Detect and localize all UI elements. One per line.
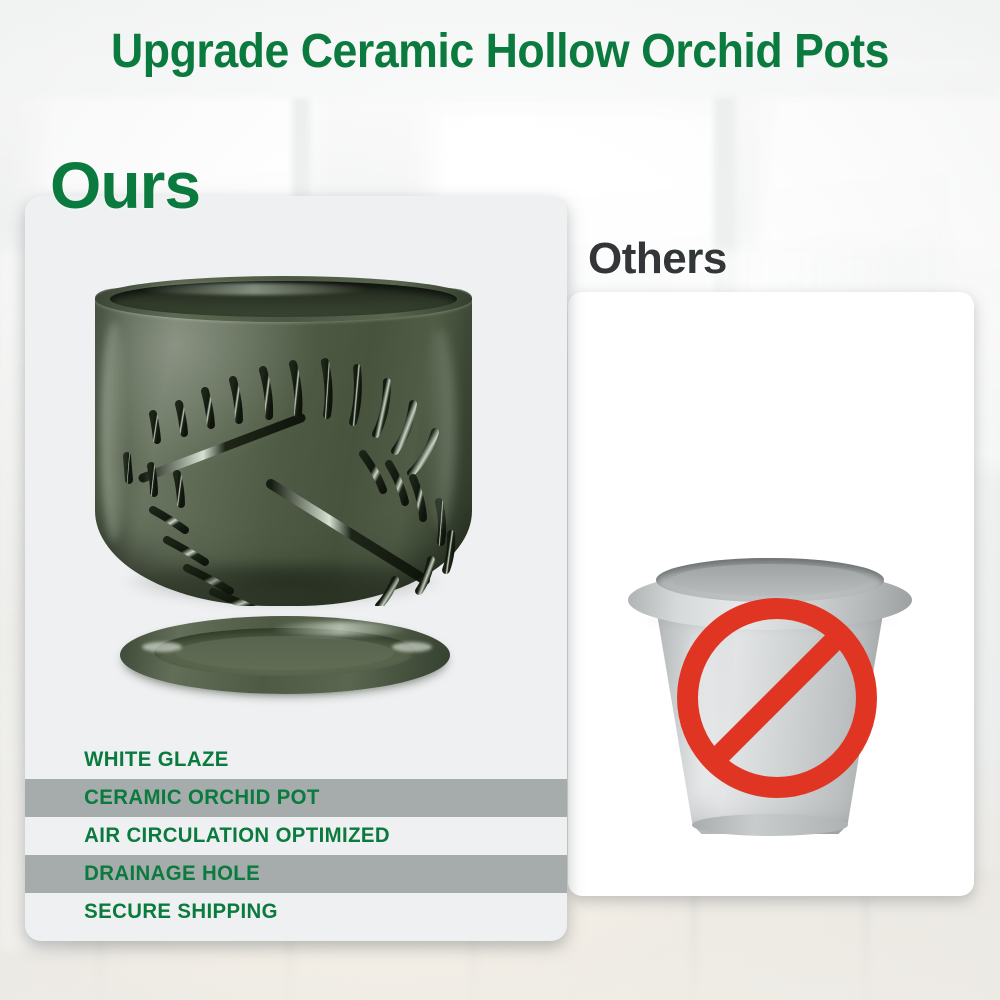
feature-label: AIR CIRCULATION OPTIMIZED <box>25 824 390 848</box>
ours-label: Ours <box>50 152 200 218</box>
others-label: Others <box>588 234 727 284</box>
feature-list: WHITE GLAZE CERAMIC ORCHID POT AIR CIRCU… <box>25 741 567 931</box>
feature-row-2: AIR CIRCULATION OPTIMIZED <box>25 817 567 855</box>
feature-row-0: WHITE GLAZE <box>25 741 567 779</box>
green-pot-highlight-left <box>101 322 127 542</box>
fern-carving-pattern <box>95 288 472 606</box>
prohibition-sign-icon <box>677 598 877 798</box>
ours-card: WHITE GLAZE CERAMIC ORCHID POT AIR CIRCU… <box>25 196 567 941</box>
page-title: Upgrade Ceramic Hollow Orchid Pots <box>35 28 965 76</box>
feature-row-3: DRAINAGE HOLE <box>25 855 567 893</box>
saucer-gloss-left <box>142 642 182 652</box>
saucer-gloss-right <box>392 642 432 652</box>
saucer-gloss-top <box>270 622 410 636</box>
feature-label: SECURE SHIPPING <box>25 900 278 924</box>
green-pot-body <box>95 288 472 606</box>
feature-label: WHITE GLAZE <box>25 748 229 772</box>
green-pot-highlight-right <box>425 328 455 528</box>
green-pot-rim-gloss <box>139 283 369 295</box>
feature-row-1: CERAMIC ORCHID POT <box>25 779 567 817</box>
feature-row-4: SECURE SHIPPING <box>25 893 567 931</box>
green-saucer <box>120 616 450 706</box>
gray-terracotta-pot-image <box>620 552 920 842</box>
gray-pot-foot <box>692 814 848 836</box>
green-pot <box>95 276 472 606</box>
saucer-well-inner <box>176 636 394 670</box>
gray-pot-rim-inner-deep <box>672 564 868 596</box>
others-card <box>568 292 974 896</box>
feature-label: CERAMIC ORCHID POT <box>25 786 320 810</box>
green-pot-base-shadow <box>123 562 443 606</box>
feature-label: DRAINAGE HOLE <box>25 862 260 886</box>
green-orchid-pot-image <box>25 196 567 716</box>
